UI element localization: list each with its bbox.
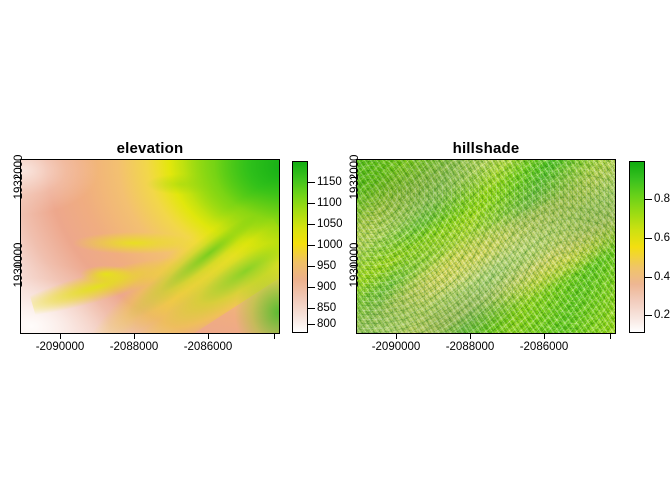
- hillshade-raster-surface: [357, 160, 615, 333]
- x-tick-elevation-0: [60, 334, 61, 339]
- colorbar-tick-elevation-4: [308, 266, 315, 267]
- raster-map-elevation[interactable]: [20, 159, 280, 334]
- colorbar-label-elevation-2: 1050: [317, 218, 343, 230]
- page-title-hillshade: hillshade: [356, 140, 616, 157]
- colorbar-label-hillshade-0: 0.8: [654, 193, 670, 205]
- colorbar-label-hillshade-1: 0.6: [654, 232, 670, 244]
- x-tick-hillshade-0: [396, 334, 397, 339]
- colorbar-label-elevation-0: 1150: [317, 176, 342, 188]
- x-tick-label-hillshade-0: -2090000: [372, 341, 421, 353]
- y-tick-label-hillshade-1: 1930000: [349, 243, 361, 288]
- y-tick-label-elevation-0: 1932000: [13, 155, 25, 200]
- colorbar-tick-hillshade-3: [645, 315, 652, 316]
- x-tick-elevation-1: [134, 334, 135, 339]
- colorbar-tick-elevation-0: [308, 182, 315, 183]
- colorbar-tick-elevation-7: [308, 324, 315, 325]
- x-tick-elevation-2: [208, 334, 209, 339]
- colorbar-label-elevation-5: 900: [317, 281, 336, 293]
- x-tick-hillshade-2: [544, 334, 545, 339]
- colorbar-label-elevation-1: 1100: [317, 197, 342, 209]
- colorbar-label-elevation-6: 850: [317, 302, 336, 314]
- colorbar-hillshade-gradient: [630, 162, 644, 332]
- x-tick-label-elevation-0: -2090000: [36, 341, 85, 353]
- x-tick-hillshade-1: [470, 334, 471, 339]
- page-title-elevation: elevation: [20, 140, 280, 157]
- x-tick-elevation-3: [274, 334, 275, 339]
- raster-map-hillshade[interactable]: [356, 159, 616, 334]
- elevation-highland-layer: [21, 160, 279, 333]
- colorbar-tick-hillshade-2: [645, 277, 652, 278]
- x-tick-label-hillshade-2: -2086000: [520, 341, 569, 353]
- y-tick-label-hillshade-0: 1932000: [349, 155, 361, 200]
- colorbar-label-elevation-7: 800: [317, 318, 336, 330]
- colorbar-tick-elevation-5: [308, 287, 315, 288]
- colorbar-label-hillshade-3: 0.2: [654, 309, 670, 321]
- x-tick-label-elevation-2: -2086000: [184, 341, 233, 353]
- x-tick-label-elevation-1: -2088000: [110, 341, 159, 353]
- hillshade-shadow-layer: [357, 160, 615, 333]
- colorbar-label-elevation-4: 950: [317, 260, 336, 272]
- colorbar-tick-hillshade-0: [645, 199, 652, 200]
- colorbar-label-hillshade-2: 0.4: [654, 271, 670, 283]
- colorbar-tick-elevation-6: [308, 308, 315, 309]
- colorbar-tick-elevation-3: [308, 245, 315, 246]
- colorbar-hillshade[interactable]: [629, 161, 645, 333]
- x-tick-label-hillshade-1: -2088000: [446, 341, 495, 353]
- colorbar-elevation[interactable]: [292, 161, 308, 333]
- elevation-raster-surface: [21, 160, 279, 333]
- x-tick-hillshade-3: [610, 334, 611, 339]
- colorbar-elevation-gradient: [293, 162, 307, 332]
- colorbar-label-elevation-3: 1000: [317, 239, 343, 251]
- y-tick-label-elevation-1: 1930000: [13, 243, 25, 288]
- colorbar-tick-elevation-2: [308, 224, 315, 225]
- colorbar-tick-hillshade-1: [645, 238, 652, 239]
- colorbar-tick-elevation-1: [308, 203, 315, 204]
